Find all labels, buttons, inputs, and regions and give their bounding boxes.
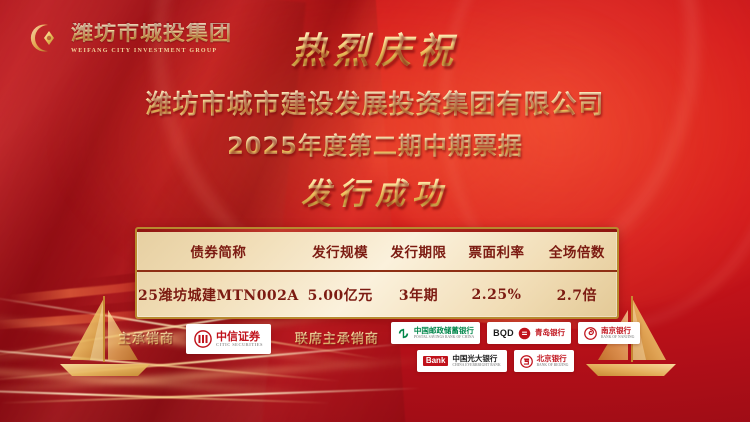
joint-underwriter-label: 联席主承销商	[295, 322, 379, 347]
underwriter-chip-citic-securities: 中信证券 CITIC SECURITIES	[186, 324, 271, 354]
cell-scale: 5.00亿元	[300, 271, 381, 318]
headline-celebrate: 热烈庆祝	[291, 22, 459, 74]
column-header-bond-name: 债券简称	[137, 229, 300, 271]
cell-bond-name: 25潍坊城建MTN002A	[137, 271, 300, 318]
underwriter-name-cn: 中国邮政储蓄银行	[414, 327, 474, 335]
underwriter-name-en: POSTAL SAVINGS BANK OF CHINA	[414, 336, 474, 340]
lead-underwriter-label: 主承销商	[118, 322, 174, 347]
column-header-oversubscription: 全场倍数	[537, 229, 617, 271]
underwriter-name-en: BQD	[493, 328, 514, 338]
cell-oversubscription: 2.7倍	[537, 271, 617, 318]
underwriter-name-cn: 中国光大银行	[452, 355, 500, 363]
joint-underwriter-row-2: Bank 中国光大银行 CHINA EVERBRIGHT BANK 北京银行 B…	[391, 350, 641, 372]
underwriter-name-cn: 中信证券	[216, 331, 263, 342]
cell-coupon-rate: 2.25%	[456, 271, 536, 318]
underwriter-name-cn: 青岛银行	[535, 329, 565, 337]
bank-of-beijing-logo-icon	[520, 355, 533, 368]
cell-term: 3年期	[381, 271, 457, 318]
headline-block: 热烈庆祝 潍坊市城市建设发展投资集团有限公司 2025年度第二期中期票据 发行成…	[0, 0, 750, 250]
everbright-bank-logo-icon: Bank	[423, 356, 449, 366]
panel-top-accent	[137, 229, 617, 232]
underwriter-name-cn: 北京银行	[537, 355, 569, 363]
poster-canvas: 潍坊市城投集团 WEIFANG CITY INVESTMENT GROUP 热烈…	[0, 0, 750, 422]
underwriter-name-en: CHINA EVERBRIGHT BANK	[452, 364, 500, 368]
underwriter-chip-bank-of-qingdao: BQD 青岛银行	[487, 322, 571, 344]
postal-savings-bank-logo-icon	[397, 327, 410, 340]
bank-of-qingdao-logo-icon	[518, 327, 531, 340]
underwriter-chip-postal-savings-bank: 中国邮政储蓄银行 POSTAL SAVINGS BANK OF CHINA	[391, 322, 480, 344]
column-header-scale: 发行规模	[300, 229, 381, 271]
underwriter-chip-everbright-bank: Bank 中国光大银行 CHINA EVERBRIGHT BANK	[417, 350, 507, 372]
headline-note: 2025年度第二期中期票据	[227, 126, 523, 161]
joint-underwriter-row-1: 中国邮政储蓄银行 POSTAL SAVINGS BANK OF CHINA BQ…	[391, 322, 641, 344]
column-header-coupon-rate: 票面利率	[456, 229, 536, 271]
table-row: 25潍坊城建MTN002A 5.00亿元 3年期 2.25% 2.7倍	[137, 271, 617, 318]
bond-table: 债券简称 发行规模 发行期限 票面利率 全场倍数 25潍坊城建MTN002A 5…	[137, 229, 617, 318]
headline-success: 发行成功	[301, 169, 449, 213]
citic-securities-logo-icon	[194, 330, 212, 348]
underwriter-name-en: BANK OF NANJING	[601, 336, 634, 340]
underwriters-section: 主承销商 中信证券 CITIC SECURITIES 联席主承销商	[118, 322, 638, 372]
underwriter-chip-bank-of-nanjing: 南京银行 BANK OF NANJING	[578, 322, 640, 344]
underwriter-name-en: CITIC SECURITIES	[216, 343, 263, 347]
underwriter-name-cn: 南京银行	[601, 327, 634, 335]
headline-company: 潍坊市城市建设发展投资集团有限公司	[145, 84, 604, 121]
underwriter-chip-bank-of-beijing: 北京银行 BANK OF BEIJING	[514, 350, 575, 372]
table-header-row: 债券简称 发行规模 发行期限 票面利率 全场倍数	[137, 229, 617, 271]
underwriter-name-en: BANK OF BEIJING	[537, 364, 569, 368]
bond-info-panel: 债券简称 发行规模 发行期限 票面利率 全场倍数 25潍坊城建MTN002A 5…	[135, 227, 619, 319]
column-header-term: 发行期限	[381, 229, 457, 271]
bank-of-nanjing-logo-icon	[584, 327, 597, 340]
